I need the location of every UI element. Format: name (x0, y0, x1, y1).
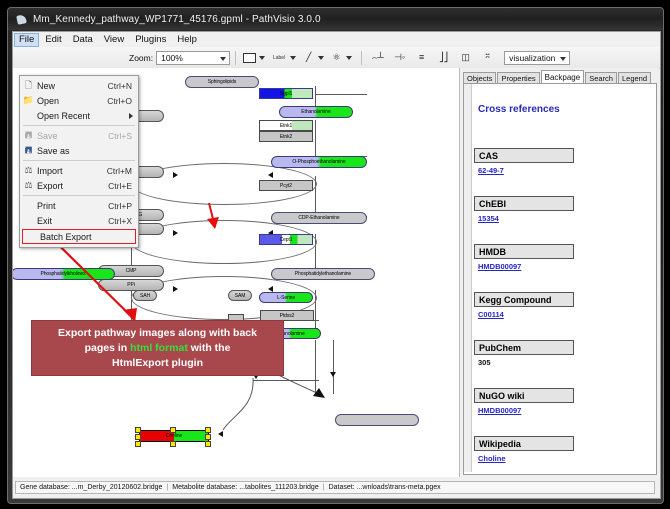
menu-item-save-as[interactable]: 🖪 Save as (20, 143, 138, 158)
gene-etnk1[interactable]: Etnk1 (259, 120, 313, 131)
gene-product-dropdown-icon[interactable] (259, 56, 265, 60)
tool-bar: Zoom: 100% Label ╱ ⚛ ⌢┴ ⊣◦ ≡ ⎦⎦ ◫ (13, 47, 660, 69)
resize-handle-ne[interactable] (205, 427, 211, 433)
menu-separator-2 (23, 160, 135, 161)
menu-item-import[interactable]: ⚖ Import Ctrl+M (20, 163, 138, 178)
selected-node-group[interactable]: Choline (135, 428, 213, 444)
panel-scrollbar[interactable] (464, 84, 472, 472)
cross-references-heading: Cross references (478, 104, 560, 115)
zoom-value: 100% (161, 53, 183, 63)
menu-file[interactable]: File (14, 33, 39, 47)
interaction-tool-icon[interactable]: ⚛ (329, 50, 344, 65)
resize-handle-sw[interactable] (135, 441, 141, 447)
resize-handle-e[interactable] (205, 434, 211, 440)
xref-chebi-value[interactable]: 15354 (478, 214, 574, 223)
menu-item-exit-label: Exit (37, 216, 108, 226)
menu-item-print-label: Print (37, 201, 108, 211)
callout-line2-c: with the (188, 342, 231, 354)
stack-icon[interactable]: ⎶ (480, 50, 495, 65)
window-title: Mm_Kennedy_pathway_WP1771_45176.gpml - P… (33, 14, 321, 25)
menu-plugins[interactable]: Plugins (130, 33, 171, 47)
status-bar: Gene database: ...m_Derby_20120602.bridg… (13, 478, 659, 497)
client-area: File Edit Data View Plugins Help Zoom: 1… (12, 31, 661, 499)
resize-handle-se[interactable] (205, 441, 211, 447)
menu-item-open-label: Open (37, 96, 107, 106)
menu-item-open-accel: Ctrl+O (107, 96, 132, 106)
xref-hmdb: HMDB HMDB00097 (474, 244, 574, 271)
menu-item-save: 🖪 Save Ctrl+S (20, 128, 138, 143)
menu-item-new[interactable]: 🗋 New Ctrl+N (20, 78, 138, 93)
xref-cas-value[interactable]: 62-49-7 (478, 166, 574, 175)
callout-line3: HtmlExport plugin (112, 357, 203, 369)
menu-bar: File Edit Data View Plugins Help (13, 32, 660, 47)
node-sam[interactable]: SAM (228, 290, 252, 301)
new-document-icon: 🗋 (20, 78, 37, 94)
menu-item-import-accel: Ctrl+M (107, 166, 132, 176)
submenu-arrow-icon (129, 113, 133, 119)
xref-nugo-label: NuGO wiki (474, 388, 574, 403)
status-bar-content: Gene database: ...m_Derby_20120602.bridg… (15, 481, 655, 494)
save-disk-icon: 🖪 (20, 128, 37, 144)
status-divider-2: | (323, 484, 325, 491)
backpage-panel: Cross references CAS 62-49-7 ChEBI 15354… (463, 83, 657, 475)
menu-item-export-accel: Ctrl+E (108, 181, 132, 191)
xref-wikipedia-value[interactable]: Choline (478, 454, 574, 463)
import-icon: ⚖ (20, 165, 37, 176)
application-window: Mm_Kennedy_pathway_WP1771_45176.gpml - P… (7, 7, 664, 504)
xref-pubchem-value: 305 (478, 358, 574, 367)
screenshot-root: Mm_Kennedy_pathway_WP1771_45176.gpml - P… (0, 0, 670, 509)
menu-item-exit[interactable]: Exit Ctrl+X (20, 213, 138, 228)
xref-chebi-label: ChEBI (474, 196, 574, 211)
visualization-value: visualization (509, 53, 555, 63)
menu-separator-1 (23, 125, 135, 126)
align-top-icon[interactable]: ⌢┴ (370, 50, 385, 65)
chevron-down-icon (220, 57, 226, 61)
node-phosphatidylethanolamine[interactable]: Phosphatidylethanolamine (271, 268, 375, 280)
zoom-combobox[interactable]: 100% (156, 51, 230, 65)
menu-data[interactable]: Data (68, 33, 98, 47)
menu-item-new-label: New (37, 81, 108, 91)
node-l-serine[interactable]: L-Serine (259, 292, 313, 303)
xref-nugo-value[interactable]: HMDB00097 (478, 406, 574, 415)
visualization-combobox[interactable]: visualization (504, 51, 570, 65)
open-folder-icon: 📁 (20, 95, 37, 106)
menu-item-batch-export-label: Batch Export (40, 232, 135, 242)
side-panel: Objects Properties Backpage Search Legen… (460, 68, 659, 477)
node-o-phosphoethanolamine[interactable]: O-Phosphoethanolamine (271, 156, 367, 168)
xref-wikipedia: Wikipedia Choline (474, 436, 574, 463)
gene-pcyt2[interactable]: Pcyt2 (259, 180, 313, 191)
menu-separator-3 (23, 195, 135, 196)
menu-edit[interactable]: Edit (40, 33, 66, 47)
tab-backpage[interactable]: Backpage (541, 70, 585, 84)
save-as-icon: 🖪 (20, 143, 37, 159)
status-gene-database: Gene database: ...m_Derby_20120602.bridg… (20, 484, 162, 491)
interaction-dropdown-icon[interactable] (346, 56, 352, 60)
line-tool-icon[interactable]: ╱ (301, 50, 316, 65)
annotation-callout: Export pathway images along with back pa… (31, 320, 284, 376)
menu-help[interactable]: Help (172, 33, 202, 47)
resize-handle-w[interactable] (135, 434, 141, 440)
file-menu-dropdown[interactable]: 🗋 New Ctrl+N 📁 Open Ctrl+O Open Recent 🖪… (19, 75, 139, 248)
menu-item-save-label: Save (37, 131, 108, 141)
chevron-down-icon-2 (560, 57, 566, 61)
menu-item-import-label: Import (37, 166, 107, 176)
resize-handle-s[interactable] (170, 441, 176, 447)
menu-item-exit-accel: Ctrl+X (108, 216, 132, 226)
gene-etnk2[interactable]: Etnk2 (259, 131, 313, 142)
xref-hmdb-label: HMDB (474, 244, 574, 259)
callout-line1: Export pathway images along with back (58, 327, 257, 339)
gene-product-tool-icon[interactable] (242, 50, 257, 65)
node-cdp-ethanolamine[interactable]: CDP-Ethanolamine (271, 212, 367, 224)
menu-item-export-label: Export (37, 181, 108, 191)
menu-item-save-accel: Ctrl+S (108, 131, 132, 141)
node-phosphatidyl-extra[interactable] (335, 414, 419, 426)
node-ethanolamine[interactable]: Ethanolamine (279, 106, 353, 118)
menu-item-print-accel: Ctrl+P (108, 201, 132, 211)
group-icon[interactable]: ◫ (458, 50, 473, 65)
export-icon: ⚖ (20, 180, 37, 191)
xref-kegg: Kegg Compound C00114 (474, 292, 574, 319)
xref-cas-label: CAS (474, 148, 574, 163)
node-sphingolipids[interactable]: Sphingolipids (185, 76, 259, 88)
xref-nugo: NuGO wiki HMDB00097 (474, 388, 574, 415)
menu-item-print[interactable]: Print Ctrl+P (20, 198, 138, 213)
line-dropdown-icon[interactable] (318, 56, 324, 60)
resize-handle-nw[interactable] (135, 427, 141, 433)
menu-item-open-recent-label: Open Recent (37, 111, 138, 121)
menu-item-open[interactable]: 📁 Open Ctrl+O (20, 93, 138, 108)
xref-wikipedia-label: Wikipedia (474, 436, 574, 451)
title-bar[interactable]: Mm_Kennedy_pathway_WP1771_45176.gpml - P… (8, 8, 663, 30)
status-divider-1: | (166, 484, 168, 491)
label-dropdown-icon[interactable] (290, 56, 296, 60)
xref-kegg-label: Kegg Compound (474, 292, 574, 307)
gene-cept1[interactable]: Cept1 (259, 234, 313, 245)
menu-item-open-recent[interactable]: Open Recent (20, 108, 138, 123)
xref-chebi: ChEBI 15354 (474, 196, 574, 223)
callout-line2-a: pages in (85, 342, 131, 354)
side-panel-tabs: Objects Properties Backpage Search Legen… (463, 70, 657, 84)
gene-sgpl1[interactable]: Sgpl1 (259, 88, 313, 99)
xref-kegg-value[interactable]: C00114 (478, 310, 574, 319)
distribute-horizontal-icon[interactable]: ⎦⎦ (436, 50, 451, 65)
menu-item-export[interactable]: ⚖ Export Ctrl+E (20, 178, 138, 193)
distribute-vertical-icon[interactable]: ≡ (414, 50, 429, 65)
menu-item-new-accel: Ctrl+N (108, 81, 132, 91)
status-dataset: Dataset: ...wnloads\trans-meta.pgex (329, 484, 441, 491)
xref-hmdb-value[interactable]: HMDB00097 (478, 262, 574, 271)
xref-pubchem: PubChem 305 (474, 340, 574, 367)
xref-pubchem-label: PubChem (474, 340, 574, 355)
pathvisio-app-icon (15, 13, 28, 26)
status-metabolite-database: Metabolite database: ...tabolites_111203… (172, 484, 318, 491)
toolbar-separator-2 (361, 51, 362, 65)
annotation-arrow-tip-icon (193, 203, 233, 243)
toolbar-separator (235, 51, 236, 65)
label-tool-icon[interactable]: Label (270, 50, 288, 65)
align-left-icon[interactable]: ⊣◦ (392, 50, 407, 65)
xref-cas: CAS 62-49-7 (474, 148, 574, 175)
callout-highlight: html format (130, 342, 188, 354)
resize-handle-n[interactable] (170, 427, 176, 433)
menu-item-save-as-label: Save as (37, 146, 132, 156)
menu-item-batch-export[interactable]: Batch Export (22, 229, 136, 244)
menu-view[interactable]: View (99, 33, 129, 47)
zoom-label: Zoom: (129, 53, 153, 63)
